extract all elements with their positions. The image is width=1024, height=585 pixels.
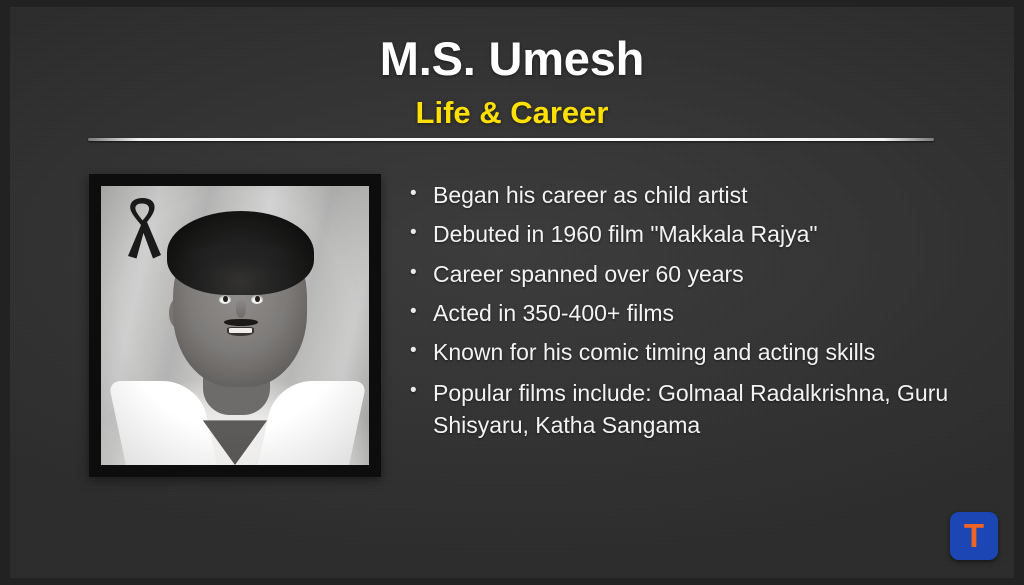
photo-eye-left xyxy=(219,295,231,304)
brand-logo-letter: T xyxy=(950,512,998,560)
photo-hair xyxy=(167,211,314,295)
bullet-dot-icon: • xyxy=(410,298,433,327)
brand-logo[interactable]: T xyxy=(950,512,998,560)
list-item-label: Acted in 350-400+ films xyxy=(433,298,988,328)
photo-mouth xyxy=(227,327,254,336)
photo-teeth xyxy=(229,328,253,333)
list-item-label: Debuted in 1960 film "Makkala Rajya" xyxy=(433,219,988,249)
list-item: • Acted in 350-400+ films xyxy=(410,298,988,328)
photo-eye-right xyxy=(251,295,263,304)
presentation-slide: M.S. Umesh Life & Career xyxy=(0,0,1024,585)
list-item-label: Known for his comic timing and acting sk… xyxy=(433,337,988,367)
list-item-label: Career spanned over 60 years xyxy=(433,259,988,289)
bullet-dot-icon: • xyxy=(410,259,433,288)
photo-nose xyxy=(236,300,246,318)
page-title: M.S. Umesh xyxy=(0,34,1024,83)
bullet-dot-icon: • xyxy=(410,219,433,248)
bullet-dot-icon: • xyxy=(410,180,433,209)
list-item-label: Began his career as child artist xyxy=(433,180,988,210)
page-subtitle: Life & Career xyxy=(0,96,1024,130)
list-item: • Known for his comic timing and acting … xyxy=(410,337,988,367)
portrait-frame xyxy=(89,174,381,477)
list-item: • Began his career as child artist xyxy=(410,180,988,210)
list-item-label: Popular films include: Golmaal Radalkris… xyxy=(433,377,988,442)
photo-moustache xyxy=(224,319,258,326)
bullet-list: • Began his career as child artist • Deb… xyxy=(410,180,988,451)
list-item: • Career spanned over 60 years xyxy=(410,259,988,289)
list-item: • Debuted in 1960 film "Makkala Rajya" xyxy=(410,219,988,249)
mourning-ribbon-icon xyxy=(119,192,165,260)
portrait-photo xyxy=(101,186,369,465)
bullet-dot-icon: • xyxy=(410,377,433,406)
photo-pupil-left xyxy=(223,296,228,302)
header-divider xyxy=(88,138,934,141)
list-item: • Popular films include: Golmaal Radalkr… xyxy=(410,377,988,442)
photo-pupil-right xyxy=(255,296,260,302)
bullet-dot-icon: • xyxy=(410,337,433,366)
